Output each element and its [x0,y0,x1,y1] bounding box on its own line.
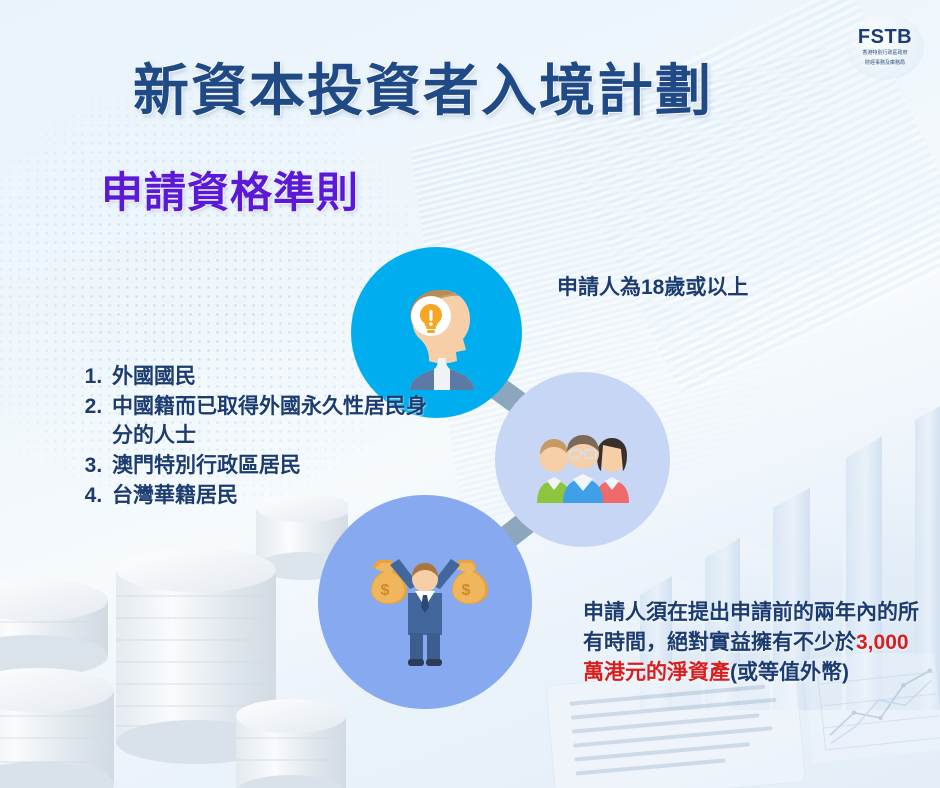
fstb-logo-subtext-line2: 財經事務及庫務局 [865,60,905,67]
list-item: 中國籍而已取得外國永久性居民身分的人士 [108,393,428,451]
eligibility-list: 外國國民 中國籍而已取得外國永久性居民身分的人士 澳門特別行政區居民 台灣華籍居… [78,363,428,512]
asset-requirement-text: 申請人須在提出申請前的兩年內的所有時間，絕對實益擁有不少於3,000 萬港元的淨… [583,598,935,687]
wealthy-person-circle: $ $ [318,495,532,709]
fstb-logo: FSTB 香港特別行政區政府 財經事務及庫務局 [846,14,924,80]
fstb-logo-acronym: FSTB [858,27,912,47]
asset-requirement-part2: (或等值外幣) [730,661,849,684]
list-item: 台灣華籍居民 [108,482,428,511]
wealthy-person-icon: $ $ [352,537,498,667]
page-title: 新資本投資者入境計劃 [133,63,713,119]
family-group-circle [495,372,670,547]
fstb-logo-subtext-line1: 香港特別行政區政府 [862,50,907,57]
svg-text:$: $ [462,582,471,599]
family-group-icon [523,417,643,503]
page-subtitle: 申請資格準則 [101,172,359,214]
person-blue [563,435,603,503]
svg-text:$: $ [381,582,390,599]
infographic-poster: FSTB 香港特別行政區政府 財經事務及庫務局 新資本投資者入境計劃 申請資格準… [0,0,940,788]
age-requirement-text: 申請人為18歲或以上 [557,274,748,301]
coin-stacks-background [0,468,348,788]
list-item: 澳門特別行政區居民 [108,452,428,481]
list-item: 外國國民 [108,363,428,392]
